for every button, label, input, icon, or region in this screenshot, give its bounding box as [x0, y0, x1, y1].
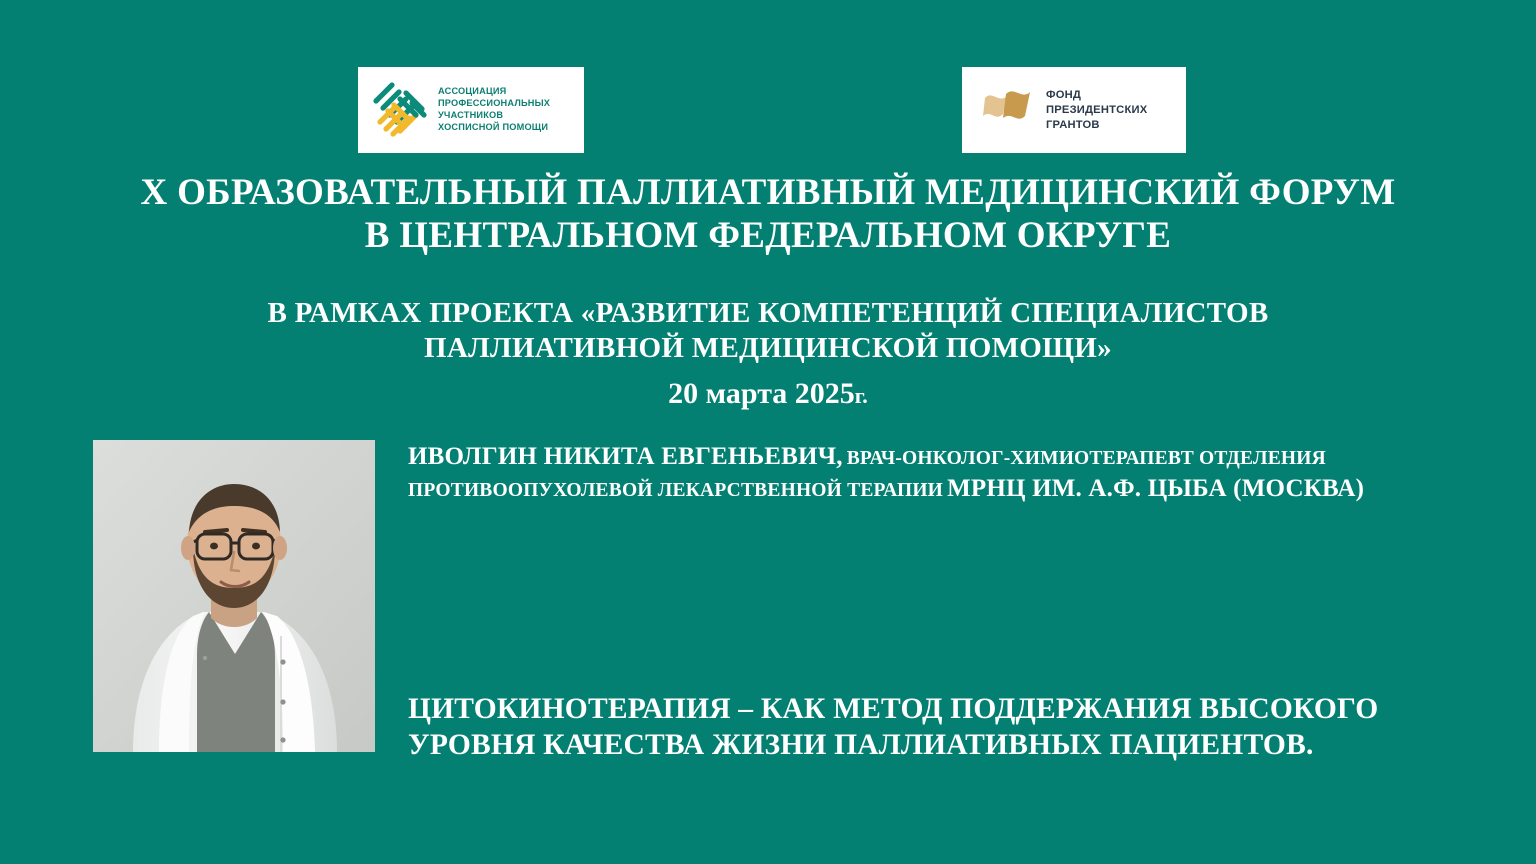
speaker-credentials: Иволгин Никита Евгеньевич, врач-онколог-…	[408, 441, 1468, 504]
interlocking-hands-icon	[370, 79, 428, 142]
event-date-suffix: г.	[855, 383, 868, 408]
speaker-portrait	[93, 440, 375, 752]
page-title: X Образовательный паллиативный медицинск…	[0, 172, 1536, 258]
project-subtitle: В рамках проекта «Развитие компетенций с…	[0, 296, 1536, 366]
speaker-name: Иволгин Никита Евгеньевич,	[408, 443, 843, 470]
speaker-position-line-1: врач-онколог-химиотерапевт отделения	[847, 448, 1326, 469]
event-date-main: 20 марта 2025	[668, 377, 855, 410]
talk-topic: Цитокинотерапия – как метод поддержания …	[408, 692, 1448, 764]
waving-flag-icon	[982, 84, 1034, 137]
presentation-slide: Ассоциация профессиональных участников х…	[0, 0, 1536, 864]
speaker-affiliation: МРНЦ им. А.Ф. Цыба (Москва)	[947, 475, 1364, 502]
association-logo-box: Ассоциация профессиональных участников х…	[358, 67, 584, 153]
fund-logo-text: Фонд президентских грантов	[1046, 88, 1147, 133]
association-logo-text: Ассоциация профессиональных участников х…	[438, 86, 550, 133]
fund-logo-box: Фонд президентских грантов	[962, 67, 1186, 153]
event-date: 20 марта 2025г.	[0, 377, 1536, 411]
speaker-position-line-2: противоопухолевой лекарственной терапии	[408, 480, 943, 501]
speaker-credentials-line-1: Иволгин Никита Евгеньевич, врач-онколог-…	[408, 441, 1468, 473]
speaker-credentials-line-2: противоопухолевой лекарственной терапии …	[408, 473, 1468, 505]
